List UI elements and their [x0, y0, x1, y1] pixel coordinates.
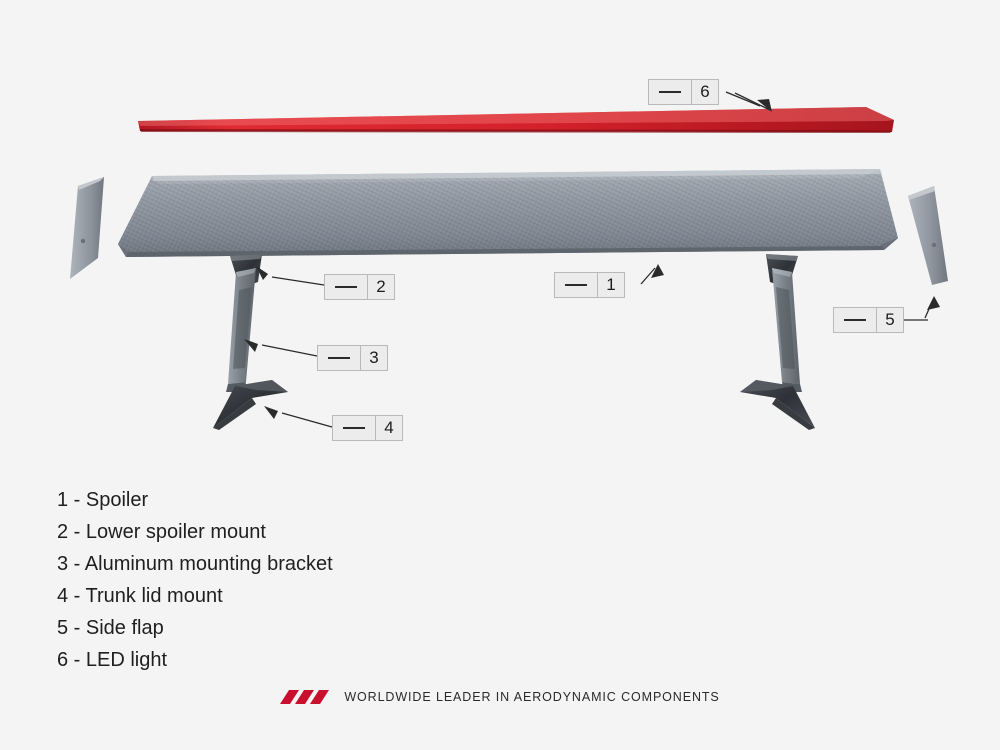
part-led-light: [138, 107, 894, 133]
callout-6[interactable]: 6: [648, 79, 719, 105]
callout-3-dash: [318, 346, 361, 370]
legend-item-1: 1 - Spoiler: [57, 484, 333, 516]
callout-6-dash: [649, 80, 692, 104]
part-upright-left: [226, 254, 262, 392]
callout-5[interactable]: 5: [833, 307, 904, 333]
callout-6-leader: [726, 92, 760, 106]
footer-tagline: WORLDWIDE LEADER IN AERODYNAMIC COMPONEN…: [344, 690, 719, 704]
callout-5-number: 5: [877, 308, 903, 332]
callout-2-number: 2: [368, 275, 394, 299]
callout-4[interactable]: 4: [332, 415, 403, 441]
callout-arrowheads: [244, 99, 940, 419]
legend-item-3: 3 - Aluminum mounting bracket: [57, 548, 333, 580]
callout-4-dash: [333, 416, 376, 440]
callout-1-dash: [555, 273, 598, 297]
callout-5-dash: [834, 308, 877, 332]
part-side-flap-right: [908, 186, 948, 285]
part-trunk-lid-mount-right: [740, 380, 815, 430]
legend-item-5: 5 - Side flap: [57, 612, 333, 644]
callout-1-number: 1: [598, 273, 624, 297]
parts-legend: 1 - Spoiler 2 - Lower spoiler mount 3 - …: [57, 484, 333, 676]
callout-3-number: 3: [361, 346, 387, 370]
callout-6-number: 6: [692, 80, 718, 104]
part-spoiler-wing: [118, 169, 898, 257]
part-upright-right: [766, 254, 802, 392]
legend-item-2: 2 - Lower spoiler mount: [57, 516, 333, 548]
callout-3[interactable]: 3: [317, 345, 388, 371]
exploded-diagram-canvas: 6 2 1 3 5 4 1 - Spoiler 2 - Lower spoile…: [0, 0, 1000, 750]
callout-1[interactable]: 1: [554, 272, 625, 298]
brand-stripes-icon: [280, 690, 332, 704]
footer: WORLDWIDE LEADER IN AERODYNAMIC COMPONEN…: [0, 690, 1000, 704]
legend-item-4: 4 - Trunk lid mount: [57, 580, 333, 612]
callout-2-dash: [325, 275, 368, 299]
part-side-flap-left: [70, 177, 104, 279]
callout-2[interactable]: 2: [324, 274, 395, 300]
legend-item-6: 6 - LED light: [57, 644, 333, 676]
part-trunk-lid-mount-left: [213, 380, 288, 430]
callout-leader-lines: [262, 93, 933, 427]
callout-4-number: 4: [376, 416, 402, 440]
